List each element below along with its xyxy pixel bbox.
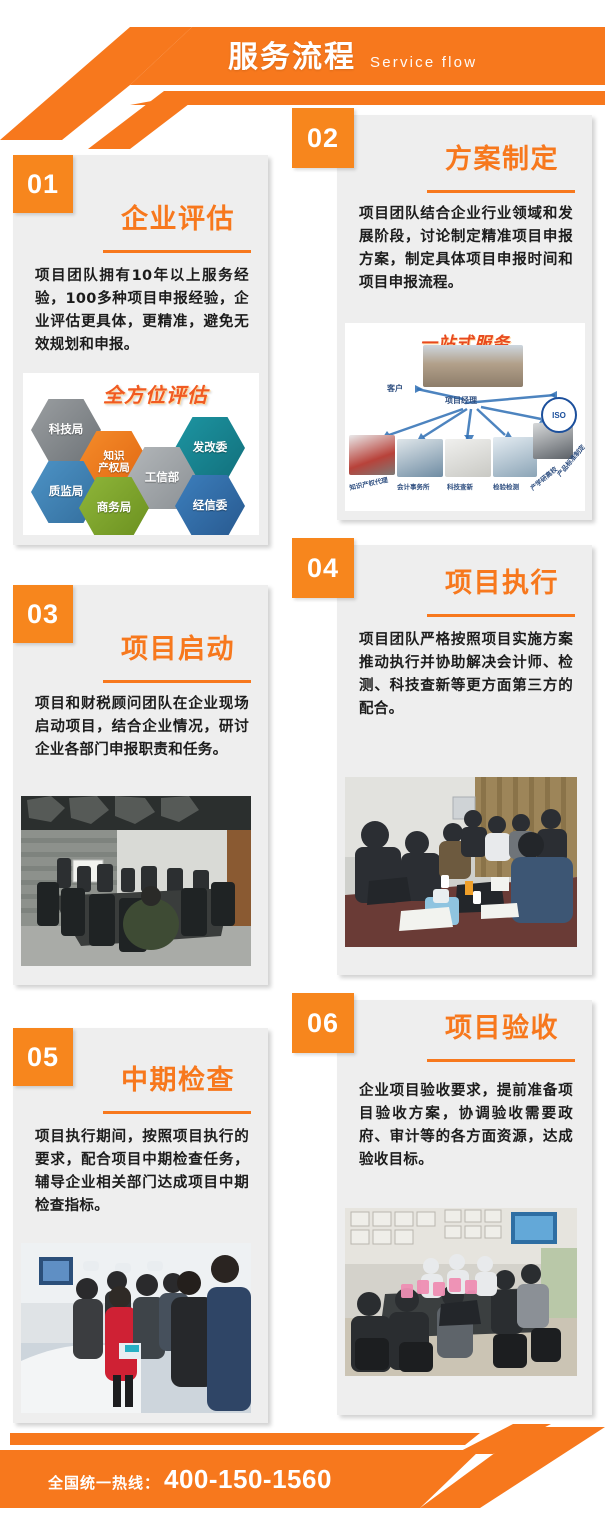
step-title-04: 项目执行: [417, 561, 587, 600]
hexagon-node-label: 质监局: [49, 485, 84, 498]
step-title-rule-05: [103, 1111, 251, 1114]
hotline: 全国统一热线： 400-150-1560: [48, 1464, 332, 1495]
step-card-02: 方案制定 项目团队结合企业行业领域和发展阶段，讨论制定精准项目申报方案，制定具体…: [337, 115, 592, 520]
step-body-04: 项目团队严格按照项目实施方案推动执行并协助解决会计师、检测、科技查新等更方面第三…: [359, 629, 573, 721]
step-number-05: 05: [27, 1042, 59, 1073]
step-number-04: 04: [307, 553, 339, 584]
step-card-04: 项目执行 项目团队严格按照项目实施方案推动执行并协助解决会计师、检测、科技查新等…: [337, 545, 592, 975]
hexagon-title: 全方位评估: [103, 379, 208, 408]
hexagon-node-label: 经信委: [193, 499, 228, 512]
step-card-06: 项目验收 企业项目验收要求，提前准备项目验收方案，协调验收需要政府、审计等的各方…: [337, 1000, 592, 1415]
step-body-03: 项目和财税顾问团队在企业现场启动项目，结合企业情况，研讨企业各部门申报职责和任务…: [35, 693, 249, 762]
one-stop-service-diagram: 一站式服务: [345, 323, 585, 511]
step-number-03: 03: [27, 599, 59, 630]
step-title-rule-03: [103, 680, 251, 683]
footer-banner: 全国统一热线： 400-150-1560: [0, 1398, 605, 1538]
header-accent-stripe: [130, 91, 605, 105]
step-badge-04: 04: [292, 538, 354, 598]
step-title-01: 企业评估: [93, 197, 263, 236]
seal-text: ISO: [552, 411, 566, 420]
step-badge-02: 02: [292, 108, 354, 168]
step-body-02: 项目团队结合企业行业领域和发展阶段，讨论制定精准项目申报方案，制定具体项目申报时…: [359, 203, 573, 295]
one-stop-node-inspection: [493, 437, 537, 477]
step-card-01: 企业评估 项目团队拥有10年以上服务经验，100多种项目申报经验，企业评估更具体…: [13, 155, 268, 545]
step-title-05: 中期检查: [93, 1058, 263, 1097]
site-visit-photo: [21, 1243, 251, 1413]
conference-room-photo: [21, 796, 251, 966]
step-badge-05: 05: [13, 1028, 73, 1086]
service-flow-infographic: 服务流程 Service flow 企业评估 项目团队拥有10年以上服务经验，1…: [0, 0, 605, 1538]
step-number-06: 06: [307, 1008, 339, 1039]
step-title-03: 项目启动: [93, 627, 263, 666]
one-stop-label-client: 客户: [387, 383, 403, 394]
step-title-06: 项目验收: [417, 1006, 587, 1045]
hexagon-node-label: 科技局: [49, 423, 84, 436]
page-title-cn: 服务流程: [228, 32, 356, 76]
page-title: 服务流程 Service flow: [228, 32, 477, 76]
one-stop-node-ip: [349, 435, 395, 475]
one-stop-bottom-label-2: 科技查新: [447, 481, 473, 491]
one-stop-node-accounting: [397, 439, 443, 477]
one-stop-node-meeting: [423, 345, 523, 387]
one-stop-bottom-label-3: 检验检测: [493, 481, 519, 491]
hotline-label: 全国统一热线：: [48, 1472, 160, 1493]
hexagon-diagram: 全方位评估 科技局 知识产权局 发改委 质监局 工信部 商务局 经信委: [23, 373, 259, 535]
hexagon-node-label: 发改委: [193, 441, 228, 454]
one-stop-bottom-label-1: 会计事务所: [397, 481, 430, 491]
meeting-laptops-photo: [345, 777, 577, 947]
step-badge-03: 03: [13, 585, 73, 643]
one-stop-node-novelty-search: [445, 439, 491, 477]
step-body-01: 项目团队拥有10年以上服务经验，100多种项目申报经验，企业评估更具体，更精准，…: [35, 265, 249, 357]
step-body-06: 企业项目验收要求，提前准备项目验收方案，协调验收需要政府、审计等的各方面资源，达…: [359, 1080, 573, 1172]
step-badge-06: 06: [292, 993, 354, 1053]
one-stop-node-certification-seal: ISO: [541, 397, 577, 433]
acceptance-meeting-photo: [345, 1208, 577, 1376]
page-title-en: Service flow: [370, 54, 477, 71]
step-card-03: 项目启动 项目和财税顾问团队在企业现场启动项目，结合企业情况，研讨企业各部门申报…: [13, 585, 268, 985]
one-stop-label-manager: 项目经理: [445, 395, 477, 406]
step-title-rule-04: [427, 614, 575, 617]
hotline-number[interactable]: 400-150-1560: [164, 1464, 332, 1495]
step-title-rule-06: [427, 1059, 575, 1062]
step-card-05: 中期检查 项目执行期间，按照项目执行的要求，配合项目中期检查任务，辅导企业相关部…: [13, 1028, 268, 1423]
step-number-01: 01: [27, 169, 59, 200]
hexagon-node-label: 商务局: [97, 501, 132, 514]
step-badge-01: 01: [13, 155, 73, 213]
footer-accent-stripe: [10, 1433, 480, 1445]
step-number-02: 02: [307, 123, 339, 154]
step-body-05: 项目执行期间，按照项目执行的要求，配合项目中期检查任务，辅导企业相关部门达成项目…: [35, 1126, 249, 1218]
step-title-rule-01: [103, 250, 251, 253]
step-title-02: 方案制定: [417, 137, 587, 176]
hexagon-node-label: 知识产权局: [98, 450, 130, 474]
step-title-rule-02: [427, 190, 575, 193]
hexagon-node-label: 工信部: [145, 471, 180, 484]
